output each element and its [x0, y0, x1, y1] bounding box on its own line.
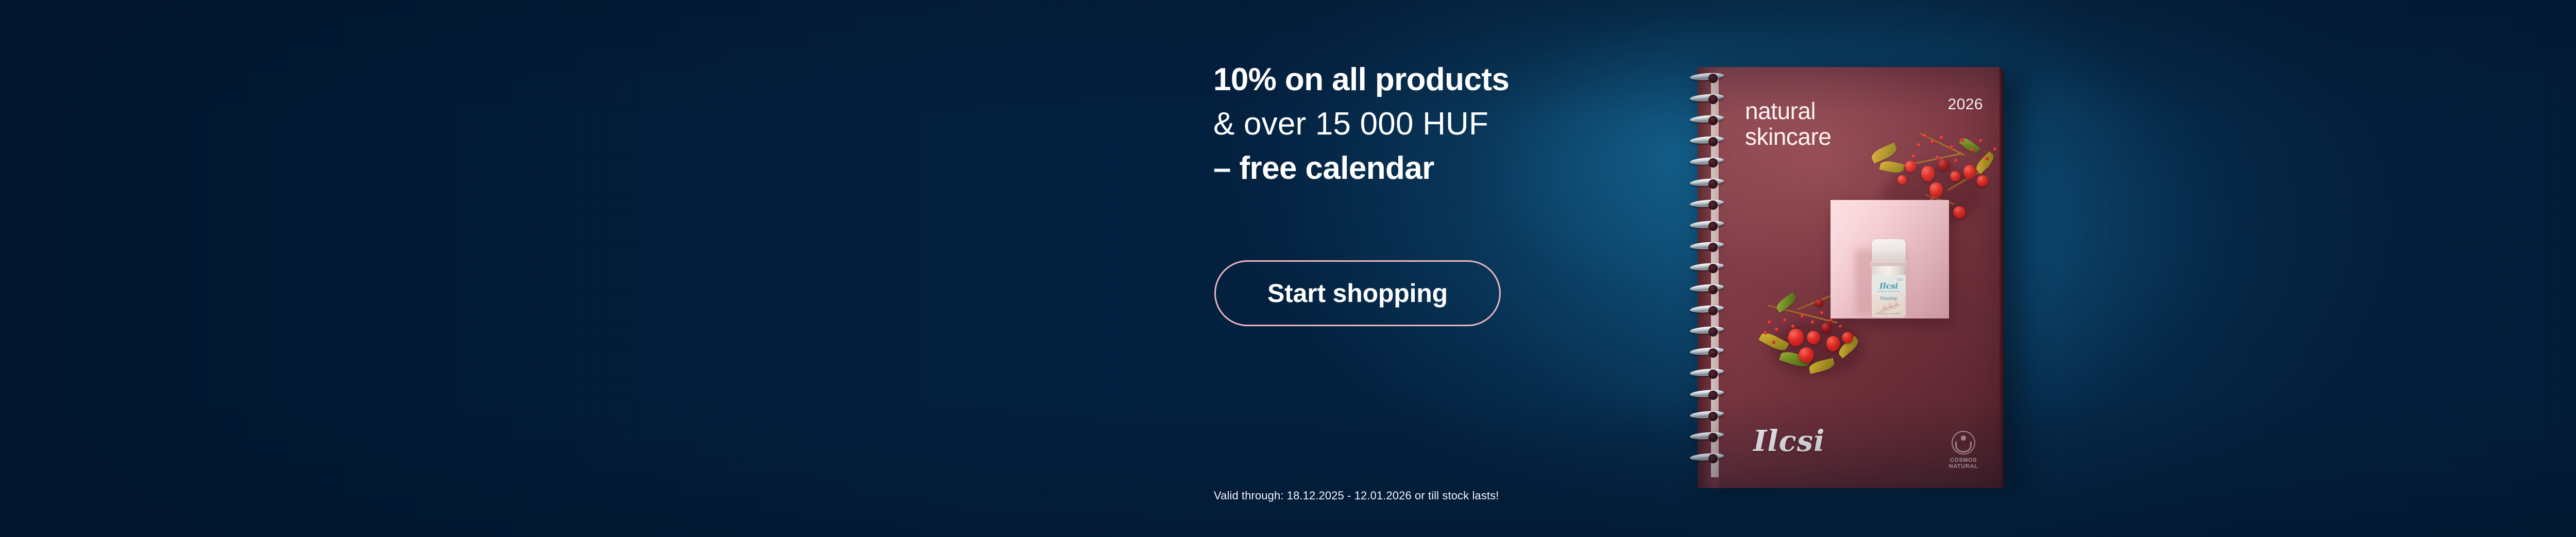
headline-block: 10% on all products & over 15 000 HUF – …	[1213, 58, 1636, 191]
headline-line-2: & over 15 000 HUF	[1213, 102, 1636, 146]
start-shopping-button[interactable]: Start shopping	[1214, 260, 1501, 326]
promotional-banner: 500 Ilcsi natural skincare Rosehip	[0, 0, 2576, 537]
validity-fineprint: Valid through: 18.12.2025 - 12.01.2026 o…	[1214, 489, 1499, 502]
headline-line-3: – free calendar	[1213, 146, 1636, 191]
headline-line-1: 10% on all products	[1213, 58, 1636, 102]
